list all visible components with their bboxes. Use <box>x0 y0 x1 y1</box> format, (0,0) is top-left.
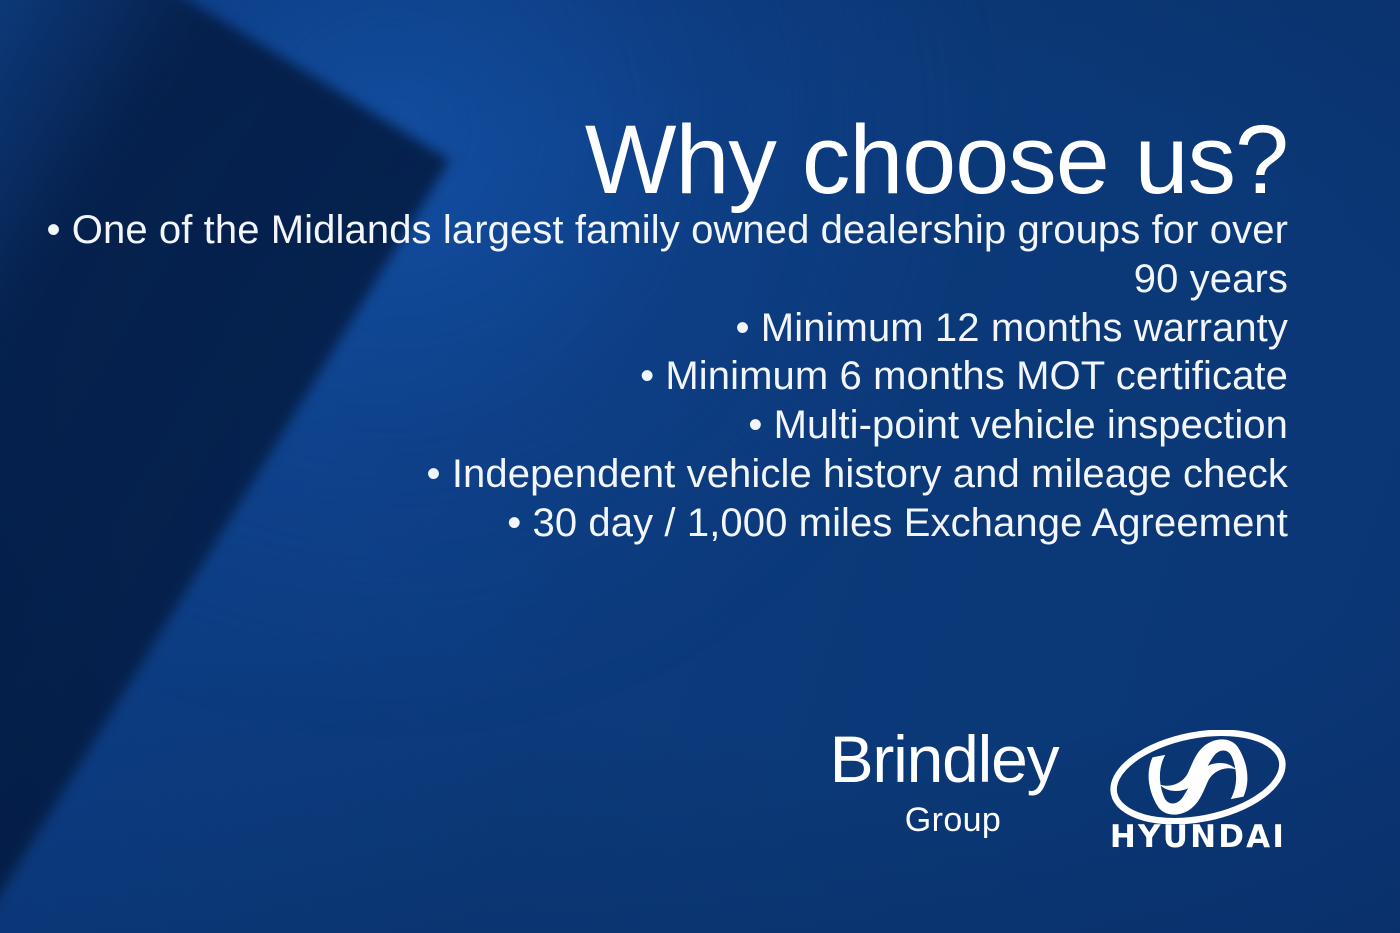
list-item: • One of the Midlands largest family own… <box>0 206 1288 304</box>
promo-slide: Why choose us? • One of the Midlands lar… <box>0 0 1400 933</box>
hyundai-logo: HYUNDAI <box>1098 730 1298 854</box>
list-item: • Independent vehicle history and mileag… <box>0 450 1288 499</box>
slide-content: Why choose us? • One of the Midlands lar… <box>0 0 1400 933</box>
list-item: • Minimum 12 months warranty <box>0 304 1288 353</box>
list-item: • Multi-point vehicle inspection <box>0 401 1288 450</box>
brindley-wordmark: Brindley <box>814 724 1074 794</box>
brindley-group-logo: Brindley Group <box>814 724 1074 840</box>
logo-row: Brindley Group HYUNDAI <box>806 724 1306 864</box>
list-item: • 30 day / 1,000 miles Exchange Agreemen… <box>0 499 1288 548</box>
benefits-list: • One of the Midlands largest family own… <box>0 206 1288 548</box>
hyundai-wordmark: HYUNDAI <box>1098 820 1298 854</box>
list-item: • Minimum 6 months MOT certificate <box>0 352 1288 401</box>
hyundai-h-ellipse-icon <box>1105 730 1291 824</box>
page-title: Why choose us? <box>0 111 1288 208</box>
brindley-group-label: Group <box>832 800 1074 840</box>
